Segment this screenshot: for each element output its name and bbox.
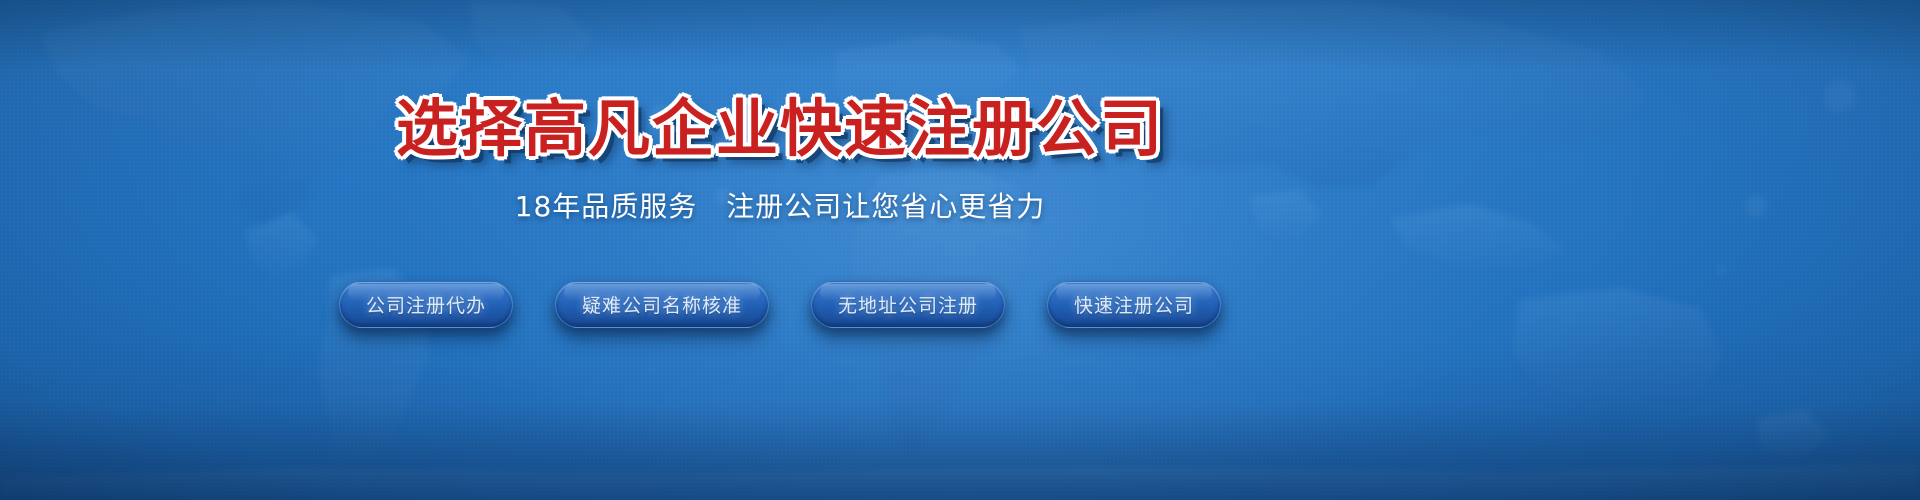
service-button-no-address-registration[interactable]: 无地址公司注册 [811,281,1005,328]
banner-content: 选择高凡企业快速注册公司 18年品质服务 注册公司让您省心更省力 公司注册代办 … [0,0,1920,500]
banner-button-row: 公司注册代办 疑难公司名称核准 无地址公司注册 快速注册公司 [0,281,1740,328]
service-button-fast-registration[interactable]: 快速注册公司 [1047,281,1221,328]
banner-headline: 选择高凡企业快速注册公司 [0,98,1740,160]
service-button-difficult-name-approval[interactable]: 疑难公司名称核准 [555,281,769,328]
banner-subheadline: 18年品质服务 注册公司让您省心更省力 [0,190,1740,224]
service-button-company-registration-agency[interactable]: 公司注册代办 [339,281,513,328]
hero-banner: 选择高凡企业快速注册公司 18年品质服务 注册公司让您省心更省力 公司注册代办 … [0,0,1920,500]
